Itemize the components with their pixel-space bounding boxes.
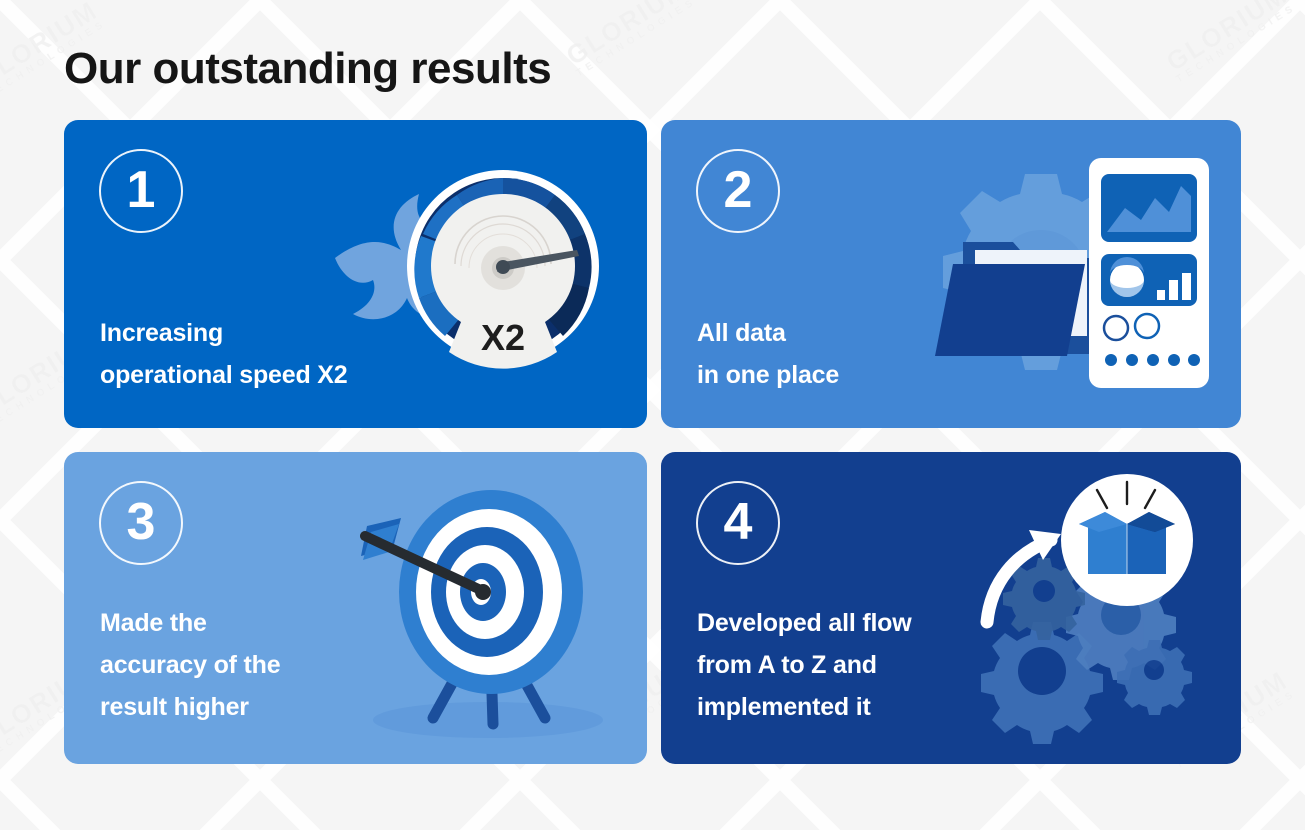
target-arrow-icon	[313, 474, 643, 744]
card-number-badge: 1	[99, 149, 183, 233]
gears-delivery-icon	[955, 474, 1225, 749]
card-text: Made the accuracy of the result higher	[100, 602, 280, 728]
gear-icon	[1003, 558, 1085, 640]
result-card-1[interactable]: X2 1 Increasing operational speed X2	[64, 120, 647, 428]
arrow-icon	[987, 540, 1051, 622]
card-text: Developed all flow from A to Z and imple…	[697, 602, 912, 728]
area-chart-panel	[1101, 174, 1197, 242]
watermark-line1: GLORIUM	[561, 0, 694, 71]
results-card-grid: X2 1 Increasing operational speed X2	[64, 120, 1241, 768]
speedometer-icon: X2	[327, 138, 627, 388]
delivery-badge	[1061, 474, 1193, 606]
data-dashboard-icon	[913, 146, 1233, 411]
card-text: All data in one place	[697, 312, 839, 396]
toggle-circle-icon	[1135, 314, 1159, 338]
page-title: Our outstanding results	[64, 44, 551, 94]
card-text: Increasing operational speed X2	[100, 312, 347, 396]
card-number-badge: 2	[696, 149, 780, 233]
pie-bar-panel	[1101, 254, 1197, 306]
card-number-badge: 3	[99, 481, 183, 565]
watermark-line2: TECHNOLOGIES	[1175, 3, 1299, 86]
sparkle-icon	[1097, 482, 1155, 508]
gear-icon	[943, 174, 1139, 370]
result-card-3[interactable]: 3 Made the accuracy of the result higher	[64, 452, 647, 764]
shadow	[373, 702, 603, 738]
gear-icon	[1117, 640, 1192, 715]
card-number-badge: 4	[696, 481, 780, 565]
gear-icon	[981, 622, 1103, 744]
gear-icon	[1066, 570, 1176, 680]
watermark-line1: GLORIUM	[1161, 0, 1294, 77]
watermark: GLORIUM TECHNOLOGIES	[1161, 0, 1300, 86]
result-card-2[interactable]: 2 All data in one place	[661, 120, 1241, 428]
arrow-icon	[361, 518, 491, 600]
toggle-circle-icon	[1104, 316, 1128, 340]
speedometer-value: X2	[481, 317, 525, 358]
watermark: GLORIUM TECHNOLOGIES	[561, 0, 700, 80]
result-card-4[interactable]: 4 Developed all flow from A to Z and imp…	[661, 452, 1241, 764]
indicator-dots	[1105, 354, 1200, 366]
open-box-icon	[1079, 512, 1175, 574]
watermark-line2: TECHNOLOGIES	[575, 0, 699, 80]
